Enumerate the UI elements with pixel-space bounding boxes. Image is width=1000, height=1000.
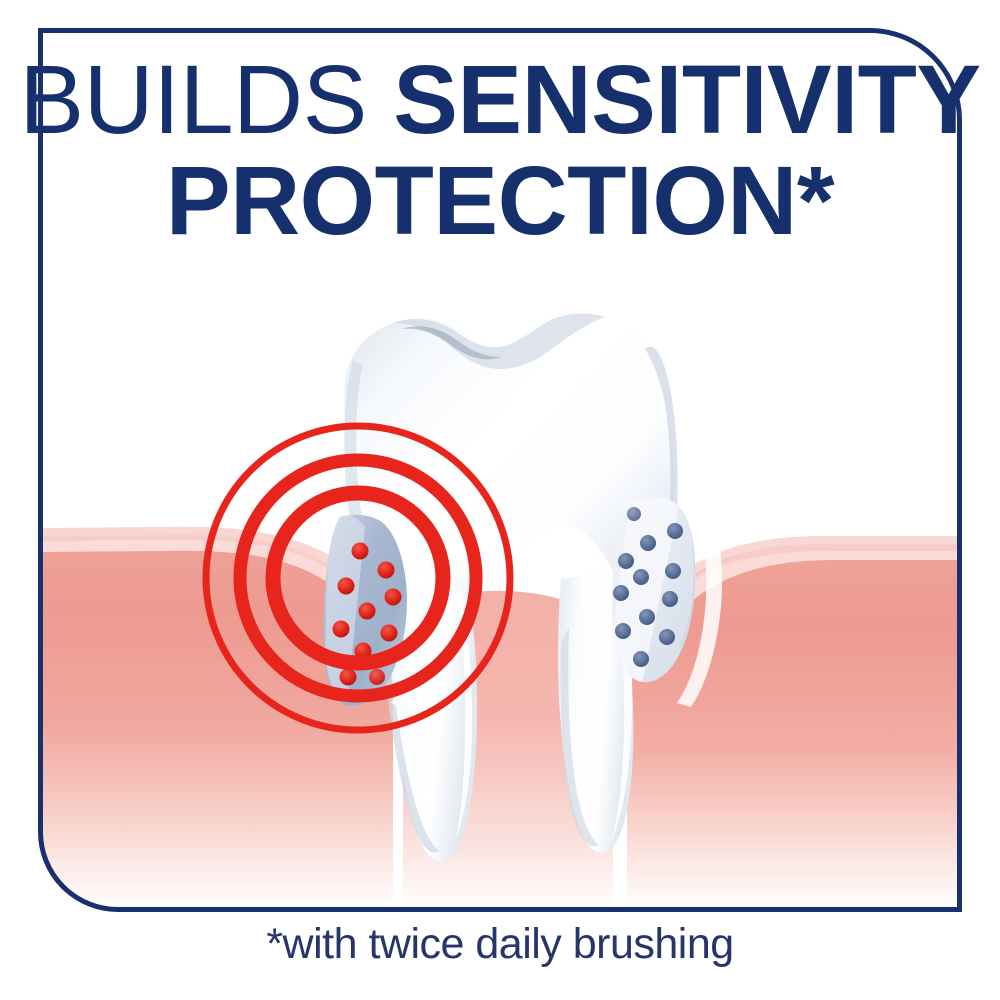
exposed-dentin-left bbox=[323, 511, 419, 707]
headline-line-1: BUILDS SENSITIVITY bbox=[0, 52, 1000, 147]
headline-sensitivity: SENSITIVITY bbox=[393, 45, 980, 154]
poster-canvas: BUILDS SENSITIVITY PROTECTION* *with twi… bbox=[0, 0, 1000, 1000]
footnote-caption: *with twice daily brushing bbox=[0, 920, 1000, 969]
headline-protection: PROTECTION* bbox=[0, 153, 1000, 248]
headline-builds: BUILDS bbox=[19, 45, 393, 154]
headline: BUILDS SENSITIVITY PROTECTION* bbox=[0, 52, 1000, 248]
